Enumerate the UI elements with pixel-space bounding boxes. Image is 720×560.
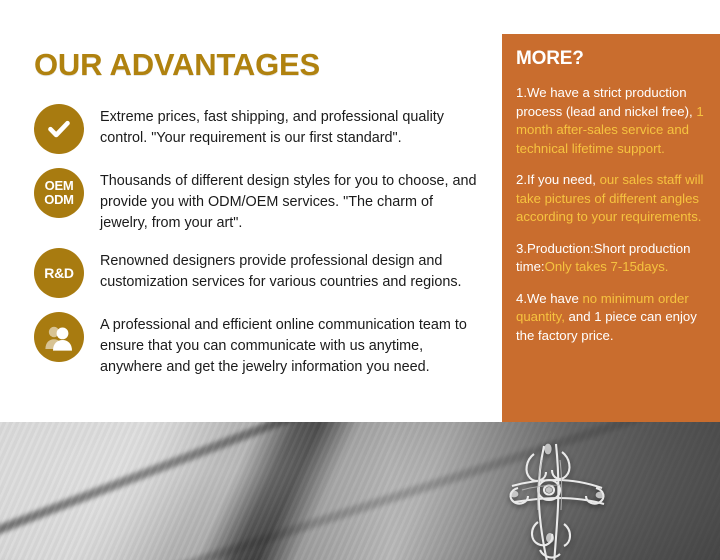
check-circle-icon bbox=[34, 104, 84, 154]
more-panel-item: 4.We have no minimum order quantity, and… bbox=[516, 290, 706, 346]
list-item-text: A professional and efficient online comm… bbox=[100, 312, 502, 378]
more-item-highlight: Only takes 7-15days. bbox=[545, 259, 669, 274]
page-title: OUR ADVANTAGES bbox=[34, 47, 320, 83]
rnd-label: R&D bbox=[44, 265, 73, 281]
more-panel-item: 1.We have a strict production process (l… bbox=[516, 84, 706, 158]
advantages-banner: OUR ADVANTAGES Extreme prices, fast ship… bbox=[0, 0, 720, 560]
list-item: A professional and efficient online comm… bbox=[0, 312, 502, 378]
oem-odm-icon: OEM ODM bbox=[34, 168, 84, 218]
list-item: Extreme prices, fast shipping, and profe… bbox=[0, 104, 502, 154]
list-item: OEM ODM Thousands of different design st… bbox=[0, 168, 502, 234]
rnd-icon: R&D bbox=[34, 248, 84, 298]
more-item-lead: 2.If you need, bbox=[516, 172, 600, 187]
more-item-lead: 1.We have a strict production process (l… bbox=[516, 85, 696, 119]
odm-label: ODM bbox=[44, 193, 73, 207]
list-item: R&D Renowned designers provide professio… bbox=[0, 248, 502, 298]
list-item-text: Thousands of different design styles for… bbox=[100, 168, 502, 234]
more-panel-title: MORE? bbox=[516, 48, 706, 70]
advantages-section: OUR ADVANTAGES Extreme prices, fast ship… bbox=[0, 0, 502, 422]
more-panel-item: 2.If you need, our sales staff will take… bbox=[516, 171, 706, 227]
jewelry-photo bbox=[0, 422, 720, 560]
oem-label: OEM bbox=[44, 179, 73, 193]
more-panel: MORE? 1.We have a strict production proc… bbox=[502, 34, 720, 426]
list-item-text: Extreme prices, fast shipping, and profe… bbox=[100, 104, 502, 149]
more-panel-item: 3.Production:Short production time:Only … bbox=[516, 240, 706, 277]
team-people-icon bbox=[34, 312, 84, 362]
cross-pendant-icon bbox=[478, 430, 628, 560]
list-item-text: Renowned designers provide professional … bbox=[100, 248, 502, 293]
more-item-lead: 4.We have bbox=[516, 291, 582, 306]
advantages-list: Extreme prices, fast shipping, and profe… bbox=[0, 104, 502, 378]
